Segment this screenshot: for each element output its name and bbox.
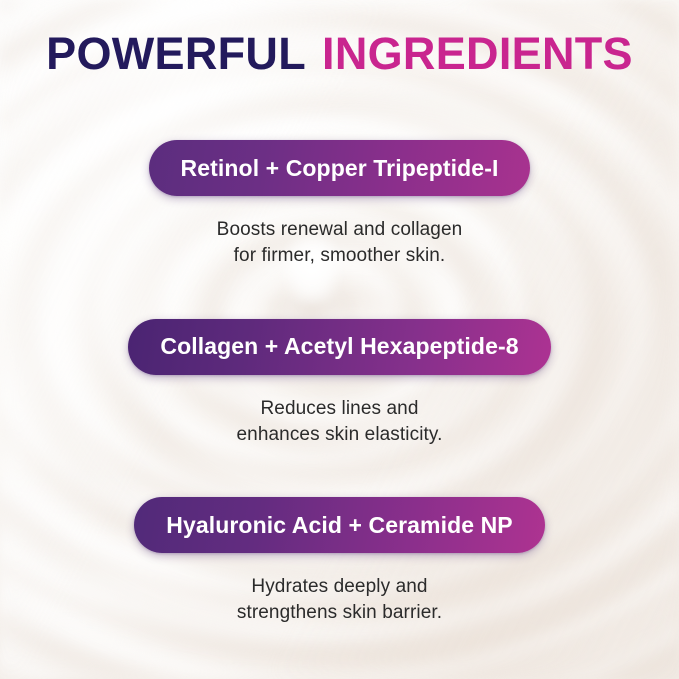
ingredient-description-3: Hydrates deeply and strengthens skin bar…: [237, 574, 442, 626]
ingredient-pill-hyaluronic-acid-ceramide-np[interactable]: Hyaluronic Acid + Ceramide NP: [134, 497, 545, 553]
powerful-ingredients-poster: POWERFULINGREDIENTS Retinol + Copper Tri…: [0, 0, 679, 679]
ingredient-block-3: Hyaluronic Acid + Ceramide NP Hydrates d…: [0, 497, 679, 626]
ingredient-pill-label: Retinol + Copper Tripeptide-I: [181, 155, 499, 182]
title-word-powerful: POWERFUL: [46, 28, 306, 79]
ingredient-description-1: Boosts renewal and collagen for firmer, …: [217, 217, 463, 269]
ingredient-pill-collagen-acetyl-hexapeptide[interactable]: Collagen + Acetyl Hexapeptide-8: [128, 319, 550, 375]
ingredient-block-2: Collagen + Acetyl Hexapeptide-8 Reduces …: [0, 319, 679, 448]
ingredient-block-1: Retinol + Copper Tripeptide-I Boosts ren…: [0, 140, 679, 269]
ingredient-list: Retinol + Copper Tripeptide-I Boosts ren…: [0, 140, 679, 626]
ingredient-pill-label: Collagen + Acetyl Hexapeptide-8: [160, 333, 518, 360]
poster-content: POWERFULINGREDIENTS Retinol + Copper Tri…: [0, 0, 679, 679]
ingredient-pill-retinol-copper-tripeptide[interactable]: Retinol + Copper Tripeptide-I: [149, 140, 531, 196]
ingredient-description-2: Reduces lines and enhances skin elastici…: [237, 396, 443, 448]
title-word-ingredients: INGREDIENTS: [322, 28, 633, 79]
ingredient-pill-label: Hyaluronic Acid + Ceramide NP: [166, 512, 513, 539]
page-title: POWERFULINGREDIENTS: [46, 31, 633, 76]
